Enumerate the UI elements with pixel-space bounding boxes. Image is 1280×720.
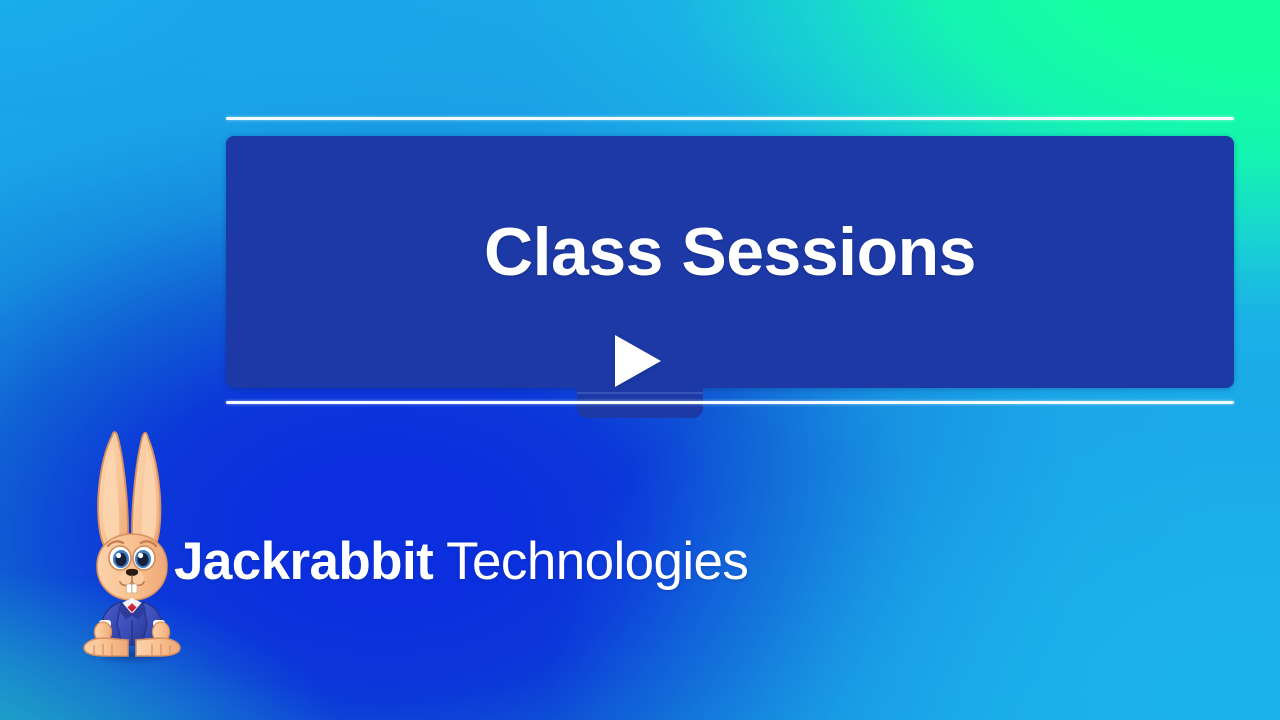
brand-lockup: JackrabbitTechnologies bbox=[70, 424, 850, 672]
brand-wordmark: JackrabbitTechnologies bbox=[174, 535, 748, 588]
video-player[interactable]: Class Sessions bbox=[226, 112, 1234, 408]
video-panel[interactable]: Class Sessions bbox=[226, 136, 1234, 388]
brand-name-technologies: Technologies bbox=[446, 532, 748, 591]
divider-bottom bbox=[226, 401, 1234, 404]
play-triangle-icon[interactable] bbox=[615, 335, 661, 387]
brand-name-jackrabbit: Jackrabbit bbox=[174, 532, 433, 591]
video-title-card: Class Sessions bbox=[0, 0, 1280, 720]
video-title: Class Sessions bbox=[226, 218, 1234, 286]
divider-top bbox=[226, 117, 1234, 120]
